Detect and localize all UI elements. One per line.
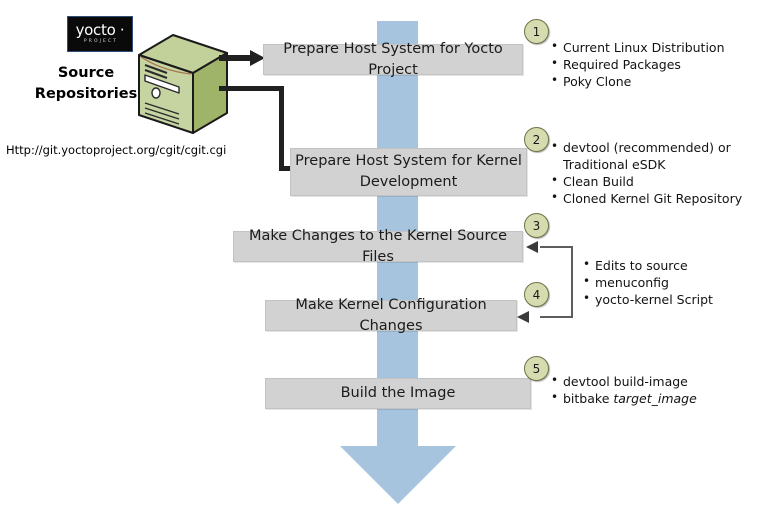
step-1-bullet-list: Current Linux Distribution Required Pack…	[551, 39, 725, 90]
bracket-line-horizontal-step-3	[540, 246, 573, 248]
step-circle-3: 3	[524, 213, 549, 238]
step-2-bullet-list: devtool (recommended) or Traditional eSD…	[551, 139, 742, 207]
step-5-bullet-item: bitbake target_image	[551, 390, 697, 407]
process-box-step-1[interactable]: Prepare Host System for Yocto Project	[263, 44, 523, 75]
process-box-step-3-label: Make Changes to the Kernel Source Files	[234, 226, 522, 268]
bracket-arrowhead-step-3	[526, 241, 538, 253]
process-box-step-2-line2: Development	[360, 174, 458, 190]
process-box-step-3[interactable]: Make Changes to the Kernel Source Files	[233, 231, 523, 262]
source-repository-url: Http://git.yoctoproject.org/cgit/cgit.cg…	[6, 143, 226, 157]
process-box-step-2-line1: Prepare Host System for Kernel	[295, 153, 522, 169]
main-flow-arrow-head	[340, 446, 456, 504]
yocto-logo-subtitle: PROJECT	[82, 40, 118, 45]
process-box-step-5[interactable]: Build the Image	[265, 378, 531, 409]
step-circle-2-number: 2	[533, 133, 541, 147]
step-2-bullet-item-line1: devtool (recommended) or	[563, 140, 731, 155]
step-2-bullet-item: Clean Build	[551, 173, 742, 190]
step-5-bullet-list: devtool build-image bitbake target_image	[551, 373, 697, 407]
step-circle-2: 2	[524, 127, 549, 152]
step-5-bullet-item-variable: target_image	[613, 391, 696, 406]
steps-3-4-bullet-item: menuconfig	[583, 274, 713, 291]
step-2-bullet-item: Cloned Kernel Git Repository	[551, 190, 742, 207]
step-circle-1-number: 1	[533, 25, 541, 39]
connector-line-to-step2-vertical	[279, 86, 284, 170]
diagram-canvas: yocto · PROJECT Source Repositories Http…	[0, 0, 769, 517]
source-label-line2: Repositories	[30, 84, 142, 105]
step-circle-5: 5	[524, 356, 549, 381]
yocto-project-logo: yocto · PROJECT	[67, 16, 133, 52]
connector-line-to-step2-horizontal-top	[219, 86, 284, 91]
step-circle-5-number: 5	[533, 362, 541, 376]
server-tower-icon	[133, 33, 229, 137]
step-2-bullet-item: devtool (recommended) or Traditional eSD…	[551, 139, 742, 173]
source-repositories-label: Source Repositories	[30, 63, 142, 105]
step-5-bullet-item: devtool build-image	[551, 373, 697, 390]
process-box-step-2-label: Prepare Host System for Kernel Developme…	[295, 151, 522, 193]
process-box-step-4-label: Make Kernel Configuration Changes	[266, 295, 516, 337]
step-5-bullet-item-command: bitbake	[563, 391, 613, 406]
steps-3-4-bullet-item: yocto-kernel Script	[583, 291, 713, 308]
step-2-bullet-item-line2: Traditional eSDK	[563, 156, 742, 173]
steps-3-4-bullet-list: Edits to source menuconfig yocto-kernel …	[583, 257, 713, 308]
bracket-line-horizontal-step-4	[540, 316, 573, 318]
bracket-line-vertical-steps-3-4	[571, 246, 573, 318]
step-1-bullet-item: Current Linux Distribution	[551, 39, 725, 56]
step-1-bullet-item: Poky Clone	[551, 73, 725, 90]
step-circle-4: 4	[524, 282, 549, 307]
process-box-step-1-label: Prepare Host System for Yocto Project	[264, 39, 522, 81]
step-circle-3-number: 3	[533, 219, 541, 233]
process-box-step-2[interactable]: Prepare Host System for Kernel Developme…	[290, 148, 527, 196]
process-box-step-5-label: Build the Image	[341, 383, 456, 404]
step-circle-1: 1	[524, 19, 549, 44]
bracket-arrowhead-step-4	[517, 311, 529, 323]
source-label-line1: Source	[30, 63, 142, 84]
yocto-logo-word: yocto ·	[76, 23, 125, 38]
step-1-bullet-item: Required Packages	[551, 56, 725, 73]
steps-3-4-bullet-item: Edits to source	[583, 257, 713, 274]
step-circle-4-number: 4	[533, 288, 541, 302]
process-box-step-4[interactable]: Make Kernel Configuration Changes	[265, 300, 517, 331]
